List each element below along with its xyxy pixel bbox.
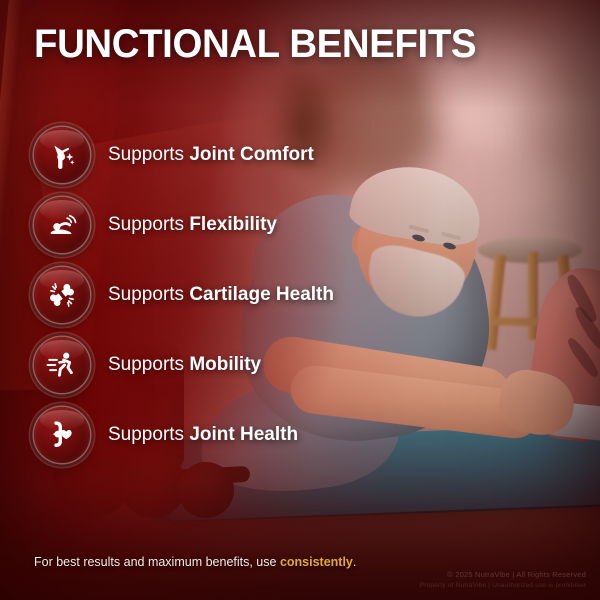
- page-title: FUNCTIONAL BENEFITS: [34, 24, 476, 64]
- benefit-label: Supports Mobility: [108, 354, 261, 376]
- benefit-prefix: Supports: [108, 214, 189, 235]
- benefit-label: Supports Cartilage Health: [108, 284, 334, 306]
- copyright-line-1: © 2025 NutraVibe | All Rights Reserved: [420, 570, 586, 581]
- benefit-highlight: Flexibility: [189, 214, 277, 235]
- footer-text-after: .: [353, 555, 356, 569]
- benefit-prefix: Supports: [108, 144, 189, 165]
- benefit-highlight: Cartilage Health: [189, 284, 334, 305]
- benefit-label: Supports Joint Comfort: [108, 144, 314, 166]
- benefit-highlight: Joint Health: [189, 424, 298, 445]
- footer-note: For best results and maximum benefits, u…: [34, 555, 356, 569]
- stretching-person-icon: [34, 197, 90, 253]
- benefit-highlight: Mobility: [189, 354, 261, 375]
- knee-joint-sparkle-icon: [34, 127, 90, 183]
- benefit-highlight: Joint Comfort: [189, 144, 314, 165]
- benefit-label: Supports Flexibility: [108, 214, 277, 236]
- benefit-item-flexibility: Supports Flexibility: [0, 196, 600, 254]
- benefit-prefix: Supports: [108, 354, 189, 375]
- benefit-prefix: Supports: [108, 284, 189, 305]
- benefits-list: Supports Joint Comfort Supports Flexibil…: [0, 126, 600, 464]
- benefit-item-joint-health: Supports Joint Health: [0, 406, 600, 464]
- copyright-block: © 2025 NutraVibe | All Rights Reserved P…: [420, 570, 586, 590]
- benefit-prefix: Supports: [108, 424, 189, 445]
- content-layer: FUNCTIONAL BENEFITS Supports Joint Comfo…: [0, 0, 600, 600]
- poster-canvas: FUNCTIONAL BENEFITS Supports Joint Comfo…: [0, 0, 600, 600]
- benefit-item-mobility: Supports Mobility: [0, 336, 600, 394]
- benefit-label: Supports Joint Health: [108, 424, 298, 446]
- benefit-item-joint-comfort: Supports Joint Comfort: [0, 126, 600, 184]
- running-person-icon: [34, 337, 90, 393]
- footer-highlight: consistently: [280, 555, 353, 569]
- copyright-line-2: Property of NutraVibe | Unauthorized use…: [420, 581, 586, 590]
- footer-text-before: For best results and maximum benefits, u…: [34, 555, 280, 569]
- benefit-item-cartilage-health: Supports Cartilage Health: [0, 266, 600, 324]
- joint-heart-icon: [34, 407, 90, 463]
- cartilage-bone-impact-icon: [34, 267, 90, 323]
